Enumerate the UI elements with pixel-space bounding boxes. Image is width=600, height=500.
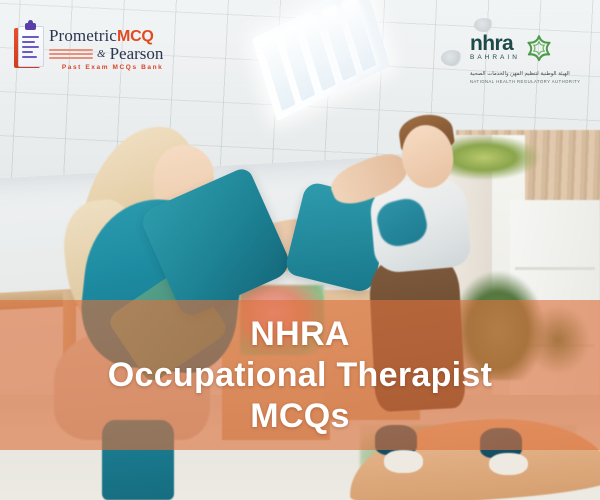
smoke-detector-2 bbox=[474, 18, 494, 32]
prometric-name: Prometric bbox=[49, 26, 117, 45]
smoke-detector-1 bbox=[441, 50, 463, 66]
nhra-english-name: NATIONAL HEALTH REGULATORY AUTHORITY bbox=[470, 79, 588, 84]
title-overlay-band bbox=[0, 300, 600, 450]
nhra-star-icon bbox=[526, 35, 552, 66]
prometric-mcq-logo[interactable]: PrometricMCQ & Pearson Past Exam MCQs Ba… bbox=[14, 26, 163, 71]
prometric-wordmark: PrometricMCQ & Pearson Past Exam MCQs Ba… bbox=[49, 26, 163, 71]
prometric-tagline: Past Exam MCQs Bank bbox=[49, 64, 163, 71]
nhra-logo[interactable]: nhra BAHRAIN الهيئة الوطنية لتنظيم المهن… bbox=[470, 34, 588, 84]
child-sock-right bbox=[489, 453, 528, 476]
child-sock-left bbox=[384, 450, 423, 473]
pearson-name-line: & Pearson bbox=[49, 45, 163, 63]
ampersand: & bbox=[97, 45, 106, 63]
nhra-wordmark: nhra bbox=[470, 34, 520, 53]
nhra-country: BAHRAIN bbox=[470, 54, 520, 61]
banner-image: PrometricMCQ & Pearson Past Exam MCQs Ba… bbox=[0, 0, 600, 500]
clipboard-icon bbox=[14, 26, 44, 68]
nhra-arabic-name: الهيئة الوطنية لتنظيم المهن والخدمات الص… bbox=[470, 71, 588, 77]
pearson-name: Pearson bbox=[110, 45, 164, 63]
prometric-mcq-accent: MCQ bbox=[117, 28, 154, 45]
logo-rule-lines bbox=[49, 47, 93, 62]
